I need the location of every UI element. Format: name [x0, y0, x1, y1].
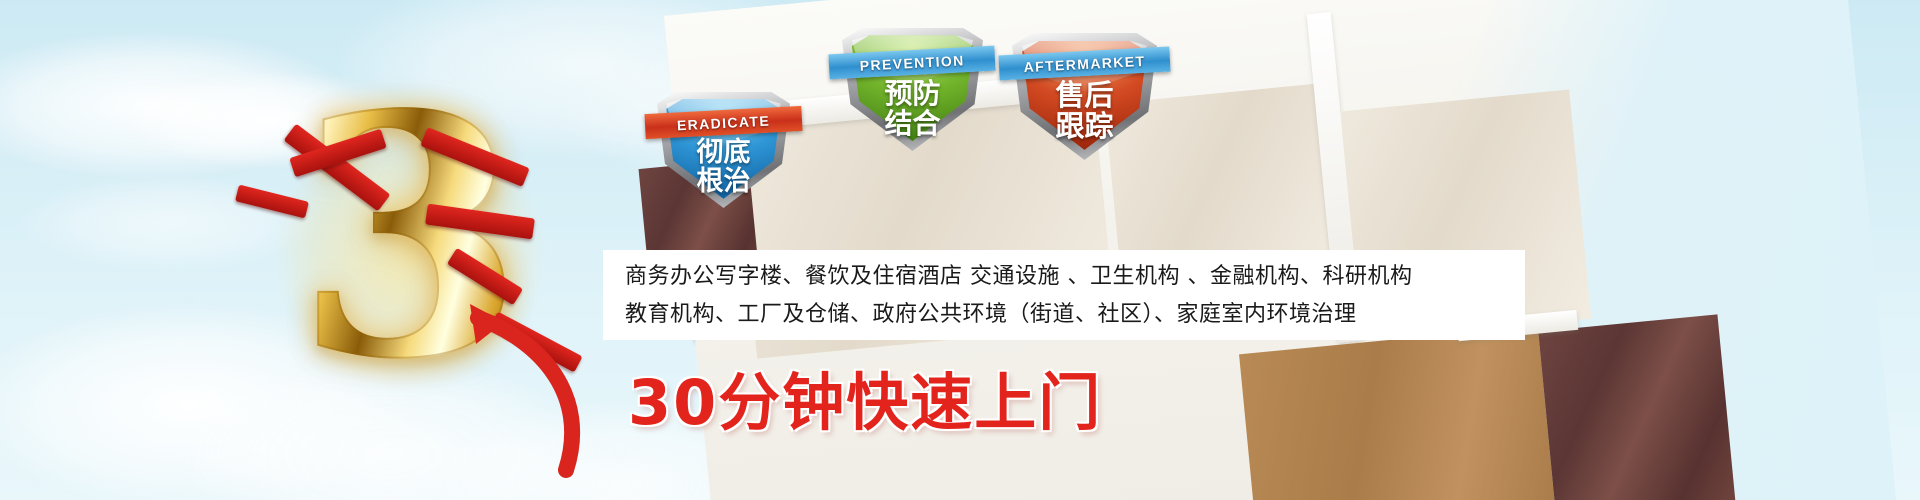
service-scope-panel: 商务办公写字楼、餐饮及住宿酒店 交通设施 、卫生机构 、金融机构、科研机构 教育…: [603, 250, 1525, 340]
shield-badge-eradicate[interactable]: ERADICATE 彻底 根治: [657, 92, 790, 208]
headline-text: 30分钟快速上门: [628, 352, 1102, 442]
shield-chinese-label: 预防 结合: [842, 79, 983, 139]
shield-chinese-label: 售后 跟踪: [1012, 80, 1157, 143]
hall-marble-floor: [1538, 314, 1736, 500]
cloud-icon: [20, 175, 320, 270]
bedroom-floor: [1239, 326, 1557, 500]
shield-badge-aftermarket[interactable]: AFTERMARKET 售后 跟踪: [1012, 33, 1157, 160]
promotional-banner: 3 ERADICATE 彻底 根治 PREVENTION 预防 结合 AFTER…: [0, 0, 1920, 500]
shield-badge-prevention[interactable]: PREVENTION 预防 结合: [842, 28, 983, 151]
service-scope-line-1: 商务办公写字楼、餐饮及住宿酒店 交通设施 、卫生机构 、金融机构、科研机构: [625, 258, 1503, 296]
service-scope-line-2: 教育机构、工厂及仓储、政府公共环境（街道、社区）、家庭室内环境治理: [625, 296, 1503, 334]
shield-chinese-label: 彻底 根治: [657, 138, 790, 196]
